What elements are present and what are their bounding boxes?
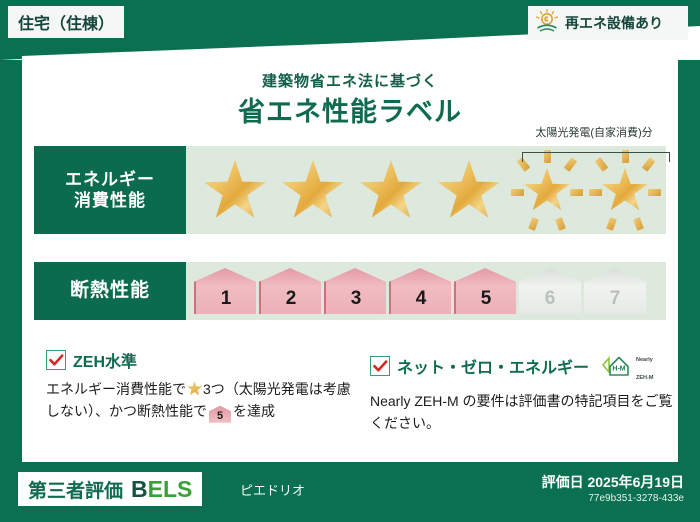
notes-section: ZEH水準 エネルギー消費性能で3つ（太陽光発電は考慮しない）、かつ断熱性能で5… (46, 348, 676, 434)
insulation-level-panel: 1 2 3 4 5 6 7 (186, 262, 666, 320)
note-nze-title: ネット・ゼロ・エネルギー (397, 354, 589, 378)
insulation-level-group: 1 2 3 4 5 6 7 (186, 262, 666, 320)
insulation-level-1: 1 (194, 268, 256, 314)
energy-performance-label: エネルギー 消費性能 (34, 146, 186, 234)
insulation-performance-label: 断熱性能 (34, 262, 186, 320)
checkbox-checked-icon (46, 350, 66, 370)
renewable-badge-label: 再エネ設備あり (565, 13, 663, 33)
note-zeh-standard: ZEH水準 エネルギー消費性能で3つ（太陽光発電は考慮しない）、かつ断熱性能で5… (46, 348, 352, 434)
inline-star-icon (187, 381, 202, 396)
insulation-level-2: 2 (259, 268, 321, 314)
note-zeh-header: ZEH水準 (46, 348, 352, 372)
note-zeh-body: エネルギー消費性能で3つ（太陽光発電は考慮しない）、かつ断熱性能で5を達成 (46, 379, 352, 423)
evaluation-id: 77e9b351-3278-433e (588, 493, 684, 504)
note-nze-header: ネット・ゼロ・エネルギー H-M Nearly ZEH-M (370, 348, 676, 384)
star-filled (430, 146, 508, 234)
zeh-m-house-icon: H-M (600, 353, 634, 379)
level-value: 1 (221, 288, 232, 310)
company-name: ピエドリオ (240, 480, 305, 499)
insulation-level-6: 6 (519, 268, 581, 314)
insulation-level-5: 5 (454, 268, 516, 314)
energy-label-line1: エネルギー (65, 169, 155, 190)
level-value: 4 (416, 288, 427, 310)
bels-logo-box: 第三者評価 BELS (18, 472, 202, 506)
bels-wordmark: BELS (131, 476, 192, 503)
note-nze-body: Nearly ZEH-M の要件は評価書の特記項目をご覧ください。 (370, 391, 676, 434)
footer-bar: 第三者評価 BELS ピエドリオ 評価日 2025年6月19日 77e9b351… (0, 462, 700, 522)
insulation-label-text: 断熱性能 (70, 279, 150, 303)
level-value: 7 (610, 288, 621, 310)
inline-level-badge: 5 (209, 406, 231, 423)
level-value: 6 (545, 288, 556, 310)
note-zeh-text-1: エネルギー消費性能で (46, 381, 186, 397)
checkbox-checked-icon (370, 356, 390, 376)
level-value: 3 (351, 288, 362, 310)
bels-jp-label: 第三者評価 (28, 476, 123, 503)
insulation-performance-row: 断熱性能 1 2 3 4 5 6 7 (34, 262, 666, 320)
insulation-level-7: 7 (584, 268, 646, 314)
level-value: 2 (286, 288, 297, 310)
note-zeh-title: ZEH水準 (73, 348, 137, 372)
bels-letter-b: B (131, 476, 148, 502)
bels-letters-els: ELS (148, 476, 193, 502)
star-filled (352, 146, 430, 234)
insulation-level-4: 4 (389, 268, 451, 314)
star-filled (274, 146, 352, 234)
evaluation-date: 評価日 2025年6月19日 (542, 472, 684, 492)
zeh-m-logo: H-M Nearly ZEH-M (600, 348, 653, 384)
renewable-energy-badge: 再エネ設備あり (528, 6, 688, 40)
note-zeh-text-4: を達成 (233, 403, 275, 419)
note-zeh-text-2: 3つ（太陽光発電 (203, 381, 309, 397)
energy-label-line2: 消費性能 (74, 190, 146, 211)
solar-annotation-text: 太陽光発電(自家消費)分 (504, 124, 684, 140)
building-type-tag: 住宅（住棟） (8, 6, 124, 38)
level-value: 5 (481, 288, 492, 310)
solar-sun-icon (534, 8, 560, 39)
svg-text:H-M: H-M (612, 366, 625, 373)
zeh-m-caption-line2: ZEH-M (636, 375, 653, 381)
building-type-label: 住宅（住棟） (18, 10, 114, 34)
zeh-m-caption-line1: Nearly (636, 357, 653, 363)
energy-performance-row: エネルギー 消費性能 太陽光発電(自家消費)分 (34, 146, 666, 234)
solar-bracket (522, 152, 670, 162)
zeh-m-caption: Nearly ZEH-M (636, 348, 653, 384)
label-card: 建築物省エネ法に基づく 省エネ性能ラベル エネルギー 消費性能 太陽光発電(自家… (22, 30, 678, 462)
star-filled (196, 146, 274, 234)
energy-star-panel: 太陽光発電(自家消費)分 (186, 146, 666, 234)
insulation-level-3: 3 (324, 268, 386, 314)
energy-performance-label: 住宅（住棟） 再エネ設備あり 建築物省エネ法に基づく 省エネ性能ラベル (0, 0, 700, 522)
label-subtitle: 建築物省エネ法に基づく (22, 70, 678, 91)
note-net-zero-energy: ネット・ゼロ・エネルギー H-M Nearly ZEH-M Nearly (370, 348, 676, 434)
